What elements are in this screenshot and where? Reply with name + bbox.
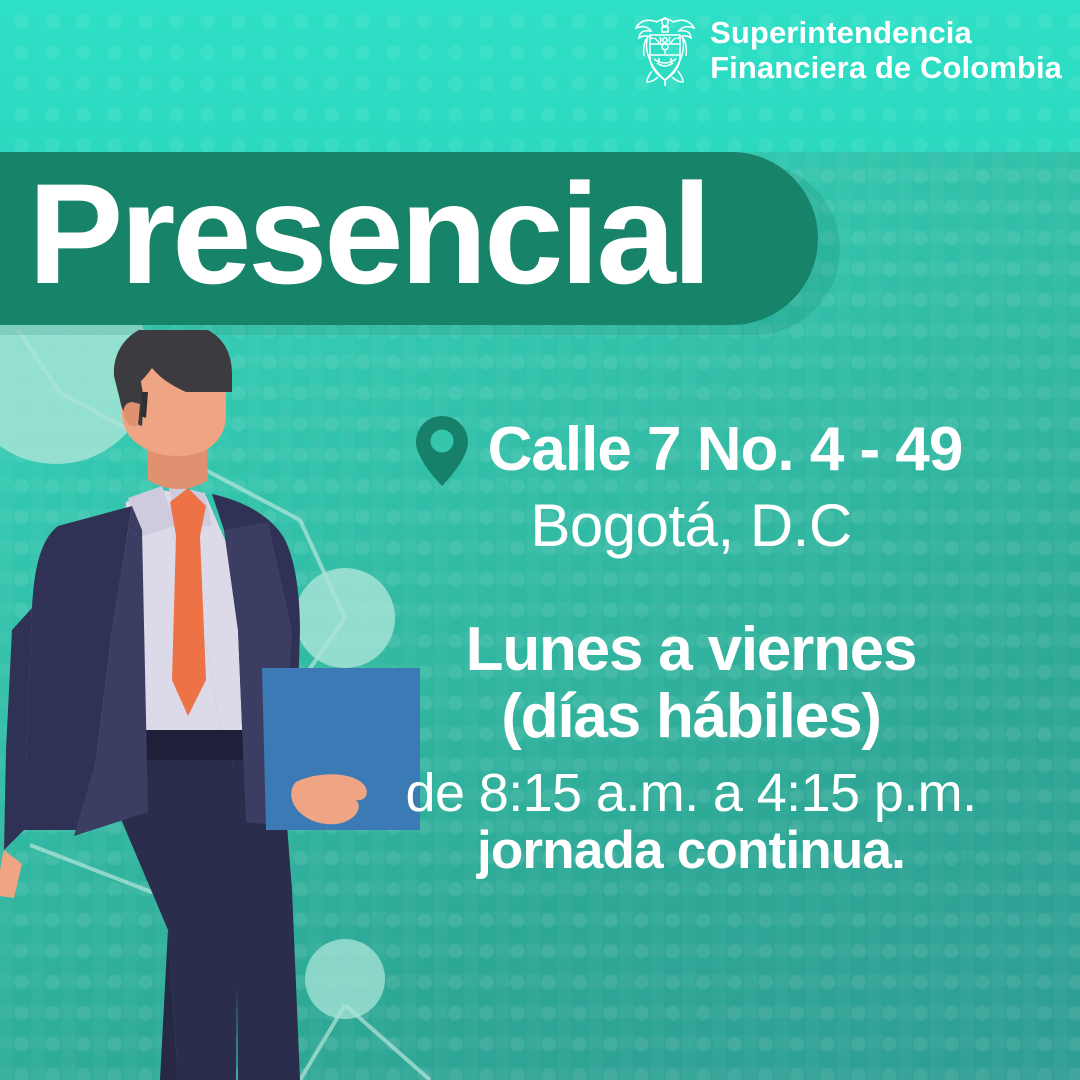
schedule-block: Lunes a viernes (días hábiles) de 8:15 a… xyxy=(335,617,1047,880)
poster-canvas: Superintendencia Financiera de Colombia … xyxy=(0,0,1080,1080)
title-banner: Presencial xyxy=(0,152,818,325)
tie xyxy=(172,536,206,716)
colombia-coat-of-arms-icon xyxy=(634,14,696,86)
schedule-hours: de 8:15 a.m. a 4:15 p.m. xyxy=(335,763,1047,823)
page-title: Presencial xyxy=(28,163,709,306)
schedule-note: jornada continua. xyxy=(335,822,1047,880)
left-hand xyxy=(0,850,22,898)
brand-logo-text: Superintendencia Financiera de Colombia xyxy=(710,15,1062,86)
address-city: Bogotá, D.C xyxy=(335,492,1047,559)
address-street: Calle 7 No. 4 - 49 xyxy=(488,417,963,482)
schedule-days-line1: Lunes a viernes xyxy=(335,617,1047,684)
org-name-line1: Superintendencia xyxy=(710,15,1062,50)
org-name-line2: Financiera de Colombia xyxy=(710,50,1062,85)
info-block: Calle 7 No. 4 - 49 Bogotá, D.C Lunes a v… xyxy=(335,412,1047,880)
map-pin-icon xyxy=(414,414,470,488)
address-street-row: Calle 7 No. 4 - 49 xyxy=(329,412,1047,488)
schedule-days-line2: (días hábiles) xyxy=(335,684,1047,751)
brand-logo: Superintendencia Financiera de Colombia xyxy=(634,14,1062,86)
